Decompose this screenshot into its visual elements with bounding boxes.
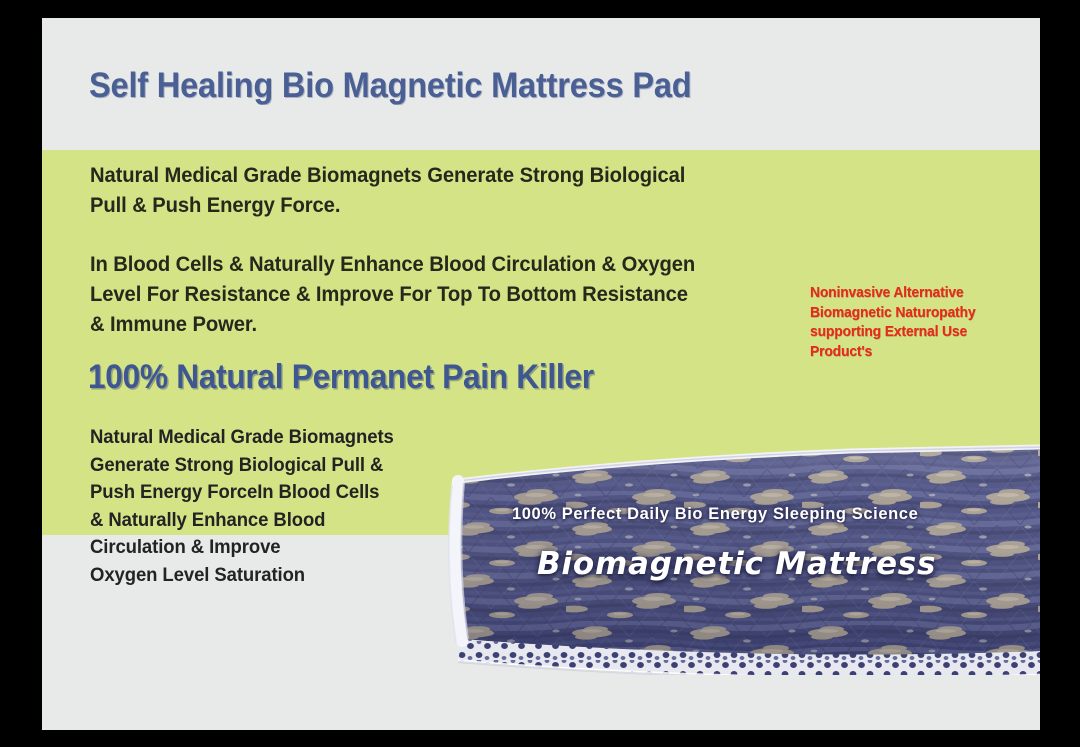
mattress-top-surface	[330, 413, 1040, 675]
mattress-tagline: 100% Perfect Daily Bio Energy Sleeping S…	[512, 505, 918, 524]
mattress-product-name: Biomagnetic Mattress	[537, 546, 936, 582]
content-panel: Self Healing Bio Magnetic Mattress Pad N…	[42, 18, 1040, 730]
mattress-illustration	[330, 413, 1040, 675]
mattress-product-image	[330, 413, 1040, 675]
noninvasive-callout: Noninvasive Alternative Biomagnetic Natu…	[810, 284, 1010, 362]
benefit-paragraph-1: Natural Medical Grade Biomagnets Generat…	[90, 160, 748, 220]
screenshot-root: Self Healing Bio Magnetic Mattress Pad N…	[0, 0, 1080, 747]
pain-killer-headline: 100% Natural Permanet Pain Killer	[88, 358, 739, 397]
benefit-paragraph-3: Natural Medical Grade Biomagnets Generat…	[90, 424, 404, 589]
benefit-paragraph-2: In Blood Cells & Naturally Enhance Blood…	[90, 249, 748, 339]
page-title: Self Healing Bio Magnetic Mattress Pad	[89, 66, 926, 106]
